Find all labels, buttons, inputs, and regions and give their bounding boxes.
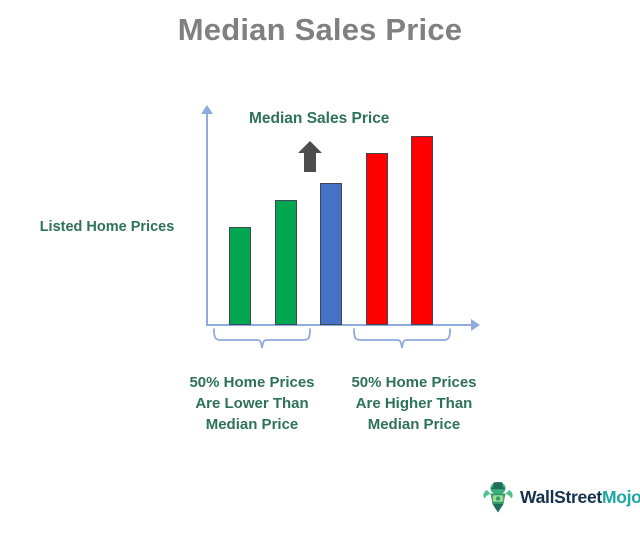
infographic-canvas: Median Sales Price Median Sales Price Li… bbox=[0, 0, 640, 534]
caption-lower-line-2: Are Lower Than bbox=[172, 393, 332, 414]
median-sales-price-label: Median Sales Price bbox=[249, 110, 389, 128]
brace-upper-half bbox=[352, 328, 452, 354]
caption-higher-line-2: Are Higher Than bbox=[334, 393, 494, 414]
listed-home-prices-label: Listed Home Prices bbox=[22, 219, 192, 235]
caption-lower-half: 50% Home Prices Are Lower Than Median Pr… bbox=[172, 372, 332, 435]
brace-lower-half bbox=[212, 328, 312, 354]
bar-1 bbox=[229, 227, 251, 325]
bar-2 bbox=[275, 200, 297, 325]
logo-primary-text: WallStreet bbox=[520, 487, 602, 507]
logo-wordmark: WallStreetMojo bbox=[520, 487, 640, 508]
wallstreetmojo-logo[interactable]: WallStreetMojo bbox=[481, 477, 627, 517]
bar-4 bbox=[366, 153, 388, 325]
logo-accent-text: Mojo bbox=[602, 487, 640, 507]
median-up-arrow-icon bbox=[298, 141, 322, 172]
caption-upper-half: 50% Home Prices Are Higher Than Median P… bbox=[334, 372, 494, 435]
bar-5 bbox=[411, 136, 433, 325]
caption-higher-line-1: 50% Home Prices bbox=[334, 372, 494, 393]
caption-lower-line-1: 50% Home Prices bbox=[172, 372, 332, 393]
caption-lower-line-3: Median Price bbox=[172, 414, 332, 435]
caption-higher-line-3: Median Price bbox=[334, 414, 494, 435]
bar-3 bbox=[320, 183, 342, 325]
mojo-figure-icon bbox=[481, 480, 515, 514]
